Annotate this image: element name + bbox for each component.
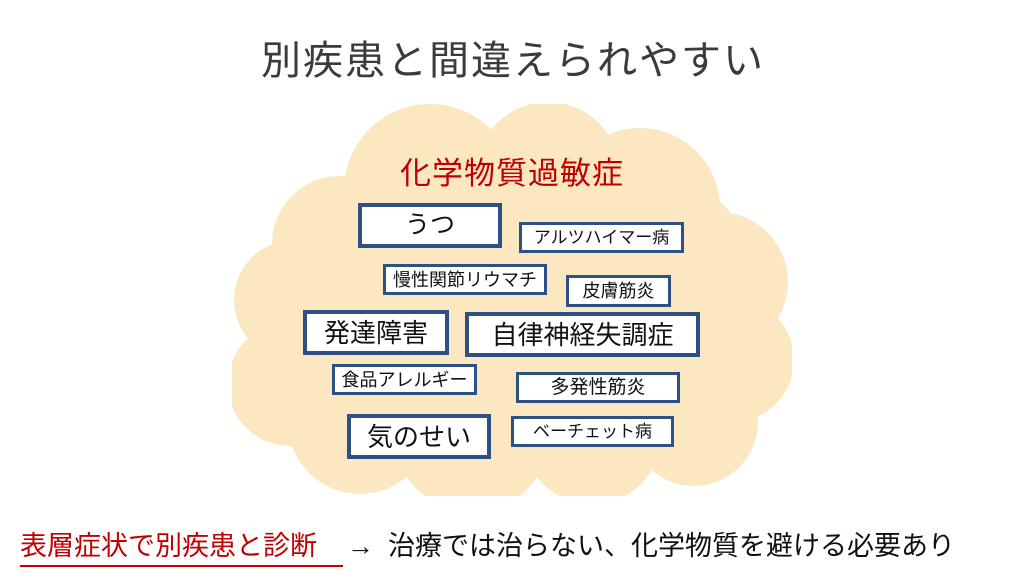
disease-box-food-allergy: 食品アレルギー xyxy=(332,364,477,395)
caption-red-text: 表層症状で別疾患と診断 xyxy=(20,524,343,567)
caption: 表層症状で別疾患と診断 → 治療では治らない、化学物質を避ける必要あり xyxy=(20,524,1010,567)
disease-box-autonomic-dysfunction: 自律神経失調症 xyxy=(465,312,700,357)
disease-box-depression: うつ xyxy=(358,203,502,248)
caption-rest-text: 治療では治らない、化学物質を避ける必要あり xyxy=(388,524,955,563)
disease-box-behcets-disease: ベーチェット病 xyxy=(511,416,674,447)
slide-canvas: 別疾患と間違えられやすい xyxy=(0,0,1026,577)
cloud-heading: 化学物質過敏症 xyxy=(232,148,792,193)
disease-box-developmental-disorder: 発達障害 xyxy=(303,310,449,355)
disease-box-imagination: 気のせい xyxy=(347,414,491,459)
disease-box-rheumatoid-arthritis: 慢性関節リウマチ xyxy=(383,264,547,295)
disease-box-dermatomyositis: 皮膚筋炎 xyxy=(566,275,671,307)
page-title: 別疾患と間違えられやすい xyxy=(0,28,1026,86)
disease-box-alzheimers: アルツハイマー病 xyxy=(519,222,684,253)
disease-box-polymyositis: 多発性筋炎 xyxy=(516,372,680,403)
arrow-icon: → xyxy=(343,531,388,562)
